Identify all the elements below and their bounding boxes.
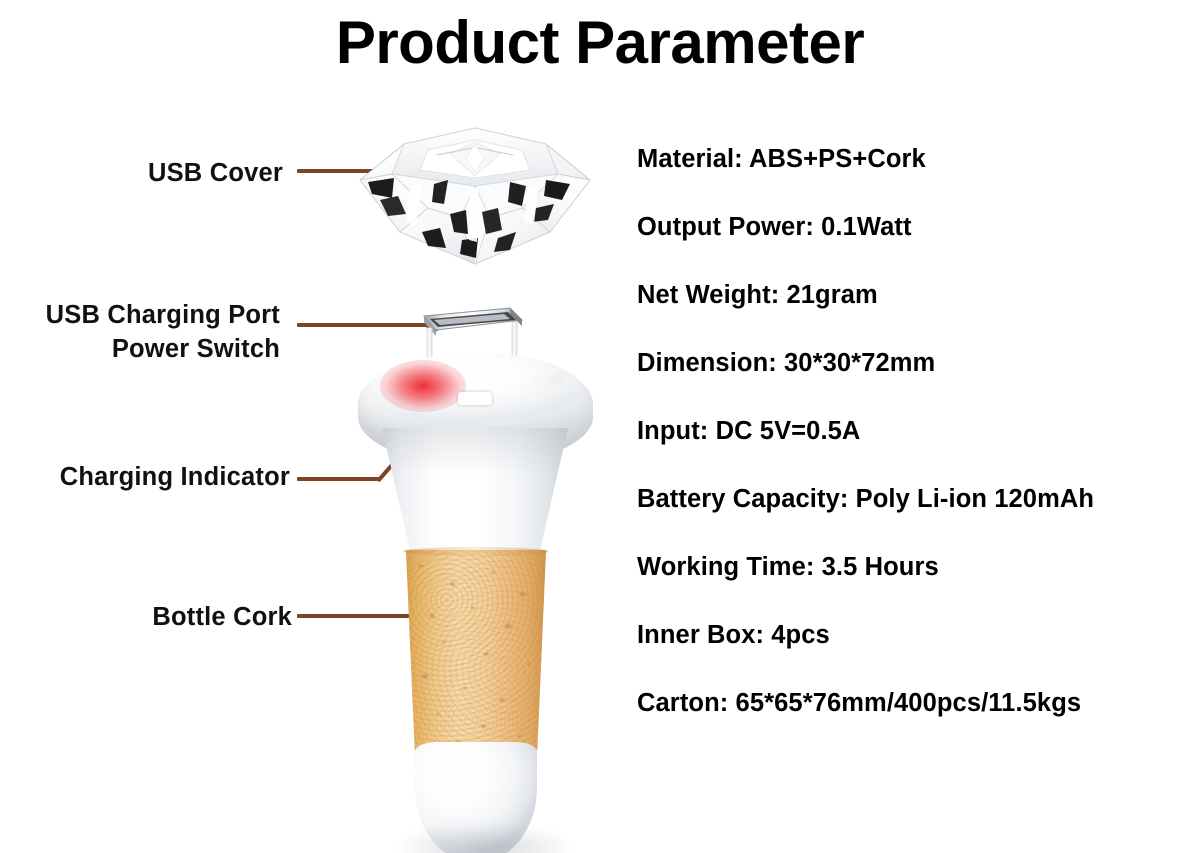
diamond-usb-cover-icon (350, 122, 600, 270)
spec-item-output-power: Output Power: 0.1Watt (637, 215, 1197, 283)
spec-item-working-time: Working Time: 3.5 Hours (637, 555, 1197, 623)
cork-top-edge (403, 547, 549, 556)
callout-label-charging-indicator: Charging Indicator (60, 461, 290, 495)
callout-line-usb-charging-port: USB Charging Port (46, 299, 280, 333)
spec-item-inner-box: Inner Box: 4pcs (637, 623, 1197, 691)
page-title: Product Parameter (0, 8, 1200, 77)
product-neck-shading (382, 428, 568, 558)
product-illustration (330, 110, 620, 850)
cap-surface-highlight (526, 368, 564, 386)
cap-port-slot (458, 392, 492, 405)
callout-line-usb-cover: USB Cover (148, 157, 283, 191)
specification-list: Material: ABS+PS+Cork Output Power: 0.1W… (637, 147, 1197, 759)
spec-item-battery-capacity: Battery Capacity: Poly Li-ion 120mAh (637, 487, 1197, 555)
spec-item-dimension: Dimension: 30*30*72mm (637, 351, 1197, 419)
callout-label-usb-cover: USB Cover (148, 157, 283, 191)
callout-line-bottle-cork: Bottle Cork (152, 601, 292, 635)
cork-grain-texture (403, 550, 549, 750)
product-parameter-infographic: Product Parameter USB Cover USB Charging… (0, 0, 1200, 853)
spec-item-net-weight: Net Weight: 21gram (637, 283, 1197, 351)
callout-label-usb-charging-port: USB Charging Port Power Switch (46, 299, 280, 366)
charging-indicator-led (380, 360, 466, 412)
spec-item-material: Material: ABS+PS+Cork (637, 147, 1197, 215)
callout-line-power-switch: Power Switch (46, 333, 280, 367)
callout-label-bottle-cork: Bottle Cork (152, 601, 292, 635)
spec-item-input: Input: DC 5V=0.5A (637, 419, 1197, 487)
callout-line-charging-indicator: Charging Indicator (60, 461, 290, 495)
spec-item-carton: Carton: 65*65*76mm/400pcs/11.5kgs (637, 691, 1197, 759)
